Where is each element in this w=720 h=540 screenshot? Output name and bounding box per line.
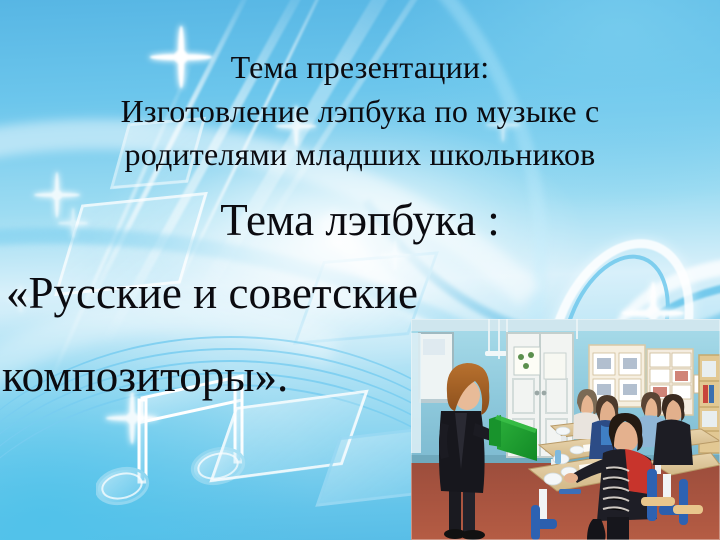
lapbook-title-line-2: композиторы». xyxy=(2,348,288,404)
presentation-topic-line-1: Изготовление лэпбука по музыке с xyxy=(0,90,720,132)
presentation-slide: Тема презентации: Изготовление лэпбука п… xyxy=(0,0,720,540)
lapbook-label: Тема лэпбука : xyxy=(0,192,720,248)
subject-label: Тема презентации: xyxy=(0,46,720,88)
presentation-topic-line-2: родителями младших школьников xyxy=(0,133,720,175)
classroom-photo xyxy=(411,319,720,540)
lapbook-title-line-1: «Русские и советские xyxy=(6,265,418,321)
